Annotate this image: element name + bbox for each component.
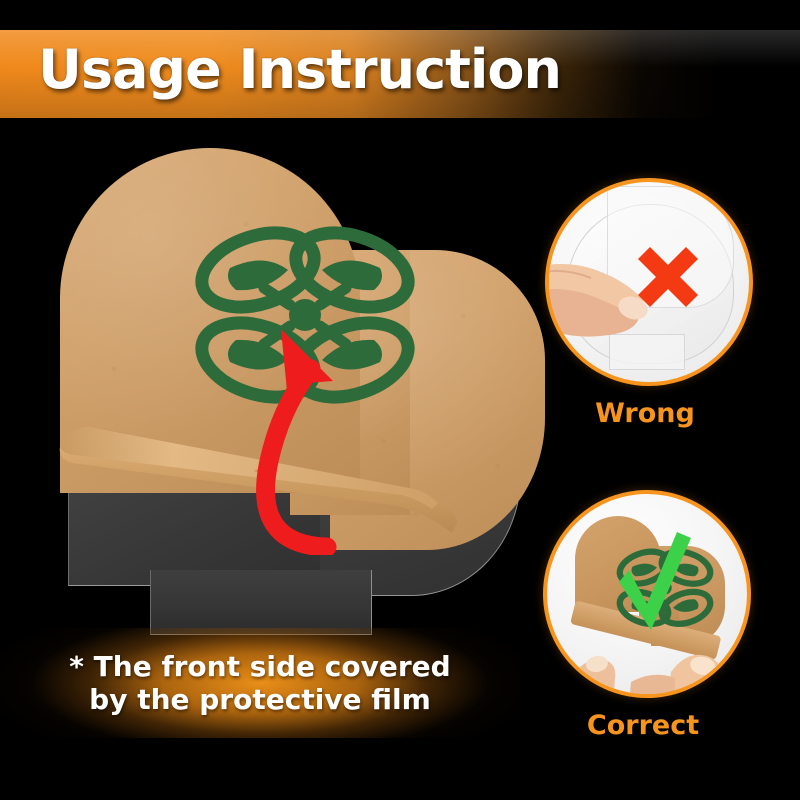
example-correct-label: Correct (543, 710, 743, 741)
hero-illustration (40, 130, 540, 610)
acrylic-stand-tab (150, 570, 372, 635)
caption-text: * The front side covered by the protecti… (69, 650, 450, 716)
example-wrong-photo (545, 178, 753, 386)
caption-line-2: by the protective film (69, 683, 450, 716)
x-mark-icon (635, 244, 701, 310)
caption-banner: * The front side covered by the protecti… (0, 628, 520, 738)
instruction-poster: Usage Instruction (0, 0, 800, 800)
check-mark-icon (615, 530, 693, 634)
example-wrong-label: Wrong (545, 398, 745, 429)
peel-direction-arrow (215, 295, 375, 555)
example-wrong: Wrong (545, 178, 755, 429)
hand-icon (575, 642, 735, 698)
caption-line-1: * The front side covered (69, 650, 450, 683)
page-title: Usage Instruction (38, 38, 561, 101)
example-correct: Correct (543, 490, 753, 741)
example-correct-photo (543, 490, 751, 698)
